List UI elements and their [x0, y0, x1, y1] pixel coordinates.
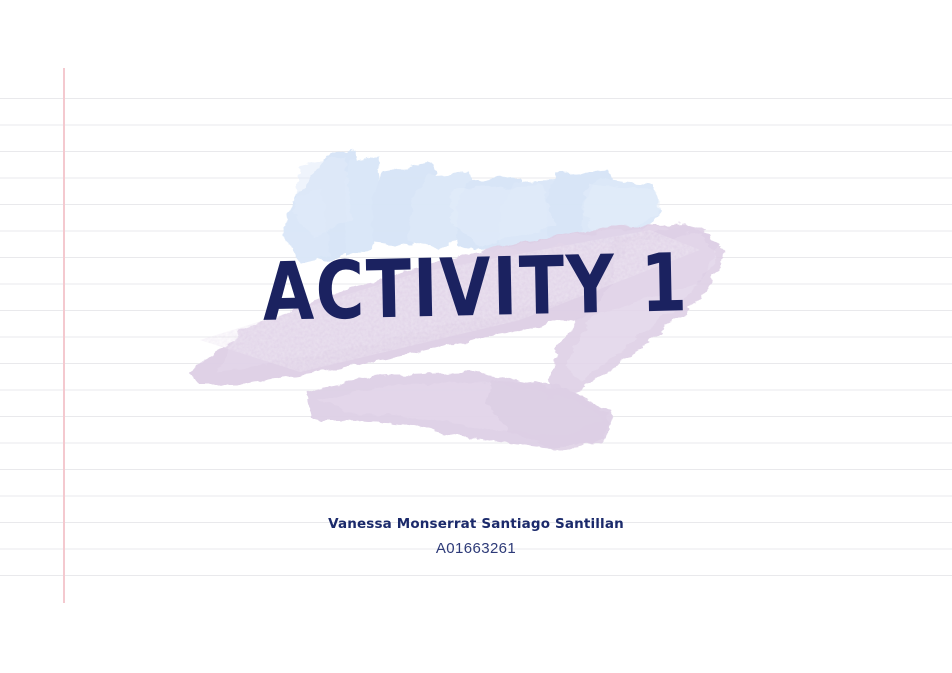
page-title: ACTIVITY 1 — [262, 243, 690, 333]
notebook-rule-lines — [0, 98, 952, 577]
author-name: Vanessa Monserrat Santiago Santillan — [0, 516, 952, 532]
slide-canvas: ACTIVITY 1 Vanessa Monserrat Santiago Sa… — [0, 0, 952, 673]
author-student-id: A01663261 — [0, 540, 952, 558]
title-container: ACTIVITY 1 — [0, 248, 952, 328]
author-container: Vanessa Monserrat Santiago Santillan A01… — [0, 516, 952, 558]
